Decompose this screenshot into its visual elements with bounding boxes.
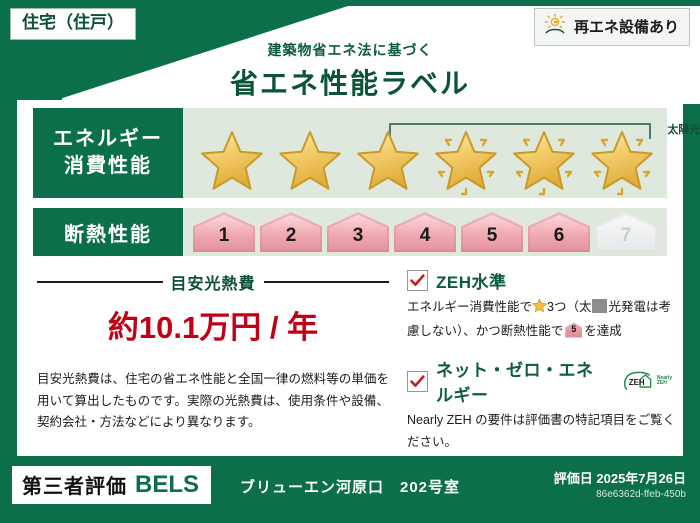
- utility-cost-title: 目安光熱費: [171, 270, 256, 294]
- bels-jp-label: 第三者評価: [22, 470, 127, 499]
- insulation-level-number: 2: [286, 225, 297, 252]
- house-icon: 2: [260, 212, 322, 252]
- house-icon: 5: [565, 323, 582, 338]
- utility-cost-amount: 約10.1万円 / 年: [37, 302, 389, 347]
- insulation-level-scale: 1234567: [187, 210, 663, 254]
- criteria-zeh-standard: ZEH水準 エネルギー消費性能で3つ（太光発電は考慮しない）、かつ断熱性能で5を…: [407, 268, 679, 342]
- title-subtitle: 建築物省エネ法に基づく: [0, 40, 700, 60]
- redacted-block: [592, 299, 607, 313]
- checkmark-icon: [407, 270, 428, 291]
- star-icon: [429, 128, 503, 194]
- house-icon: 3: [327, 212, 389, 252]
- energy-performance-label: 住宅（住戸） 再エネ設備あり 建築物省エネ法に基づく 省エ: [0, 0, 700, 523]
- star-icon: [273, 128, 347, 194]
- evaluation-date: 評価日 2025年7月26日: [554, 468, 686, 487]
- criteria-nze-body: Nearly ZEH の要件は評価書の特記項目をご覧ください。: [407, 410, 679, 453]
- house-icon: 1: [193, 212, 255, 252]
- insulation-level-number: 1: [219, 225, 230, 252]
- energy-performance-key: エネルギー 消費性能: [33, 108, 183, 198]
- utility-cost-note: 目安光熱費は、住宅の省エネ性能と全国一律の燃料等の単価を用いて算出したものです。…: [37, 369, 389, 434]
- star-icon: [532, 298, 547, 321]
- insulation-level-number: 3: [353, 225, 364, 252]
- criteria-net-zero-energy: ネット・ゼロ・エネルギー ZEH Nearly ZEH Nearly ZEH の…: [407, 356, 679, 453]
- house-icon: 4: [394, 212, 456, 252]
- insulation-performance-row: 断熱性能 1234567: [33, 208, 667, 256]
- criteria-block: ZEH水準 エネルギー消費性能で3つ（太光発電は考慮しない）、かつ断熱性能で5を…: [407, 268, 679, 467]
- utility-cost-block: 目安光熱費 約10.1万円 / 年 目安光熱費は、住宅の省エネ性能と全国一律の燃…: [37, 270, 389, 434]
- housing-type-chip: 住宅（住戸）: [10, 8, 136, 40]
- utility-cost-heading: 目安光熱費: [37, 270, 389, 294]
- renewable-chip-label: 再エネ設備あり: [574, 16, 679, 37]
- zeh-logo-icon: ZEH Nearly ZEH: [622, 369, 679, 393]
- energy-performance-row: エネルギー 消費性能 太陽光発電(自家消費)分: [33, 108, 667, 198]
- criteria-nze-title: ネット・ゼロ・エネルギー: [436, 356, 610, 406]
- bels-en-label: BELS: [135, 471, 199, 499]
- insulation-level-number: 7: [621, 225, 632, 252]
- criteria-zeh-body: エネルギー消費性能で3つ（太光発電は考慮しない）、かつ断熱性能で5を達成: [407, 297, 679, 342]
- label-footer: 第三者評価 BELS ブリューエン河原口 202号室 評価日 2025年7月26…: [0, 456, 700, 523]
- house-icon: 5: [461, 212, 523, 252]
- house-icon: 7: [595, 212, 657, 252]
- title-main: 省エネ性能ラベル: [0, 62, 700, 102]
- bels-certification-box: 第三者評価 BELS: [12, 466, 211, 504]
- zeh-body-part4: を達成: [584, 324, 622, 338]
- insulation-level-number: 4: [420, 225, 431, 252]
- insulation-level-number: 6: [554, 225, 565, 252]
- property-name: ブリューエン河原口 202号室: [240, 476, 460, 497]
- rule-left: [37, 281, 163, 283]
- criteria-nze-header: ネット・ゼロ・エネルギー ZEH Nearly ZEH: [407, 356, 679, 406]
- criteria-zeh-header: ZEH水準: [407, 268, 679, 293]
- energy-star-rating: [187, 128, 663, 194]
- zeh-body-part2: 3つ（太: [547, 300, 591, 314]
- checkmark-icon: [407, 371, 428, 392]
- label-body-panel: エネルギー 消費性能 太陽光発電(自家消費)分 断熱性能 1234567 目安光…: [17, 100, 683, 456]
- star-icon: [351, 128, 425, 194]
- zeh-logo-sub: Nearly ZEH: [657, 376, 679, 387]
- insulation-performance-key: 断熱性能: [33, 208, 183, 256]
- star-icon: [195, 128, 269, 194]
- zeh-body-part1: エネルギー消費性能で: [407, 300, 532, 314]
- criteria-zeh-title: ZEH水準: [436, 268, 507, 293]
- svg-text:ZEH: ZEH: [628, 378, 644, 387]
- energy-key-line2: 消費性能: [64, 153, 152, 180]
- rule-right: [264, 281, 390, 283]
- insulation-performance-value: 1234567: [183, 208, 667, 256]
- house-icon: 6: [528, 212, 590, 252]
- star-icon: [507, 128, 581, 194]
- evaluation-info: 評価日 2025年7月26日 86e6362d-ffeb-450b: [554, 468, 686, 500]
- evaluation-id: 86e6362d-ffeb-450b: [554, 489, 686, 500]
- energy-key-line1: エネルギー: [53, 126, 163, 153]
- title-block: 建築物省エネ法に基づく 省エネ性能ラベル: [0, 40, 700, 102]
- energy-performance-value: 太陽光発電(自家消費)分: [183, 108, 667, 198]
- insulation-level-number: 5: [487, 225, 498, 252]
- mini-house-level: 5: [565, 323, 582, 338]
- star-icon: [585, 128, 659, 194]
- sun-solar-icon: [543, 13, 567, 40]
